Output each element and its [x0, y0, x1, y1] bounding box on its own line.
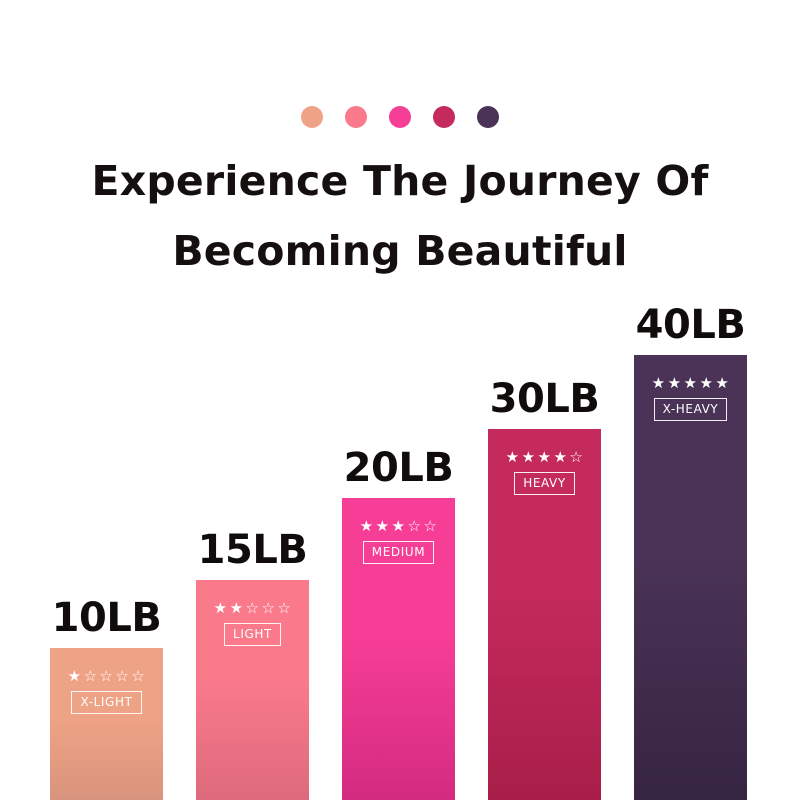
star-rating-icon: ★★☆☆☆	[214, 600, 292, 616]
bar-group[interactable]: ★★☆☆☆LIGHT15LB	[196, 510, 309, 800]
bar-badge: ★★★★★X-HEAVY	[634, 375, 747, 421]
resistance-band-bar-chart: ★☆☆☆☆X-LIGHT10LB★★☆☆☆LIGHT15LB★★★☆☆MEDIU…	[0, 0, 800, 800]
star-rating-icon: ★★★★☆	[506, 449, 584, 465]
bar-badge: ★★☆☆☆LIGHT	[196, 600, 309, 646]
star-filled-icon: ★	[214, 600, 228, 616]
bar-badge: ★★★★☆HEAVY	[488, 449, 601, 495]
star-empty-icon: ☆	[261, 600, 275, 616]
level-label: LIGHT	[224, 623, 281, 646]
star-empty-icon: ☆	[407, 518, 421, 534]
star-filled-icon: ★	[538, 449, 552, 465]
star-empty-icon: ☆	[423, 518, 437, 534]
bar[interactable]: ★★★★★X-HEAVY	[634, 355, 747, 800]
bar-group[interactable]: ★☆☆☆☆X-LIGHT10LB	[50, 578, 163, 800]
star-filled-icon: ★	[652, 375, 666, 391]
star-rating-icon: ★☆☆☆☆	[68, 668, 146, 684]
infographic-page: Experience The Journey Of Becoming Beaut…	[0, 0, 800, 800]
star-empty-icon: ☆	[100, 668, 114, 684]
star-empty-icon: ☆	[277, 600, 291, 616]
level-label: MEDIUM	[363, 541, 434, 564]
level-label: HEAVY	[514, 472, 575, 495]
star-rating-icon: ★★★★★	[652, 375, 730, 391]
star-filled-icon: ★	[506, 449, 520, 465]
star-filled-icon: ★	[668, 375, 682, 391]
bar-badge: ★☆☆☆☆X-LIGHT	[50, 668, 163, 714]
star-filled-icon: ★	[376, 518, 390, 534]
star-empty-icon: ☆	[131, 668, 145, 684]
star-filled-icon: ★	[360, 518, 374, 534]
star-filled-icon: ★	[522, 449, 536, 465]
bar-value-label: 10LB	[52, 596, 162, 640]
bar-value-label: 15LB	[198, 528, 308, 572]
level-label: X-HEAVY	[654, 398, 728, 421]
bar-value-label: 30LB	[490, 377, 600, 421]
level-label: X-LIGHT	[71, 691, 141, 714]
star-filled-icon: ★	[715, 375, 729, 391]
bar-value-label: 40LB	[636, 303, 746, 347]
bar[interactable]: ★★★☆☆MEDIUM	[342, 498, 455, 800]
star-rating-icon: ★★★☆☆	[360, 518, 438, 534]
bar-group[interactable]: ★★★★★X-HEAVY40LB	[634, 285, 747, 800]
bar-value-label: 20LB	[344, 446, 454, 490]
star-filled-icon: ★	[230, 600, 244, 616]
star-filled-icon: ★	[684, 375, 698, 391]
star-empty-icon: ☆	[115, 668, 129, 684]
star-filled-icon: ★	[392, 518, 406, 534]
star-empty-icon: ☆	[84, 668, 98, 684]
bar-group[interactable]: ★★★★☆HEAVY30LB	[488, 359, 601, 800]
bar-badge: ★★★☆☆MEDIUM	[342, 518, 455, 564]
bar[interactable]: ★★★★☆HEAVY	[488, 429, 601, 800]
bar-group[interactable]: ★★★☆☆MEDIUM20LB	[342, 428, 455, 800]
star-filled-icon: ★	[699, 375, 713, 391]
bar[interactable]: ★☆☆☆☆X-LIGHT	[50, 648, 163, 800]
star-filled-icon: ★	[68, 668, 82, 684]
star-empty-icon: ☆	[569, 449, 583, 465]
star-filled-icon: ★	[553, 449, 567, 465]
star-empty-icon: ☆	[246, 600, 260, 616]
bar[interactable]: ★★☆☆☆LIGHT	[196, 580, 309, 800]
